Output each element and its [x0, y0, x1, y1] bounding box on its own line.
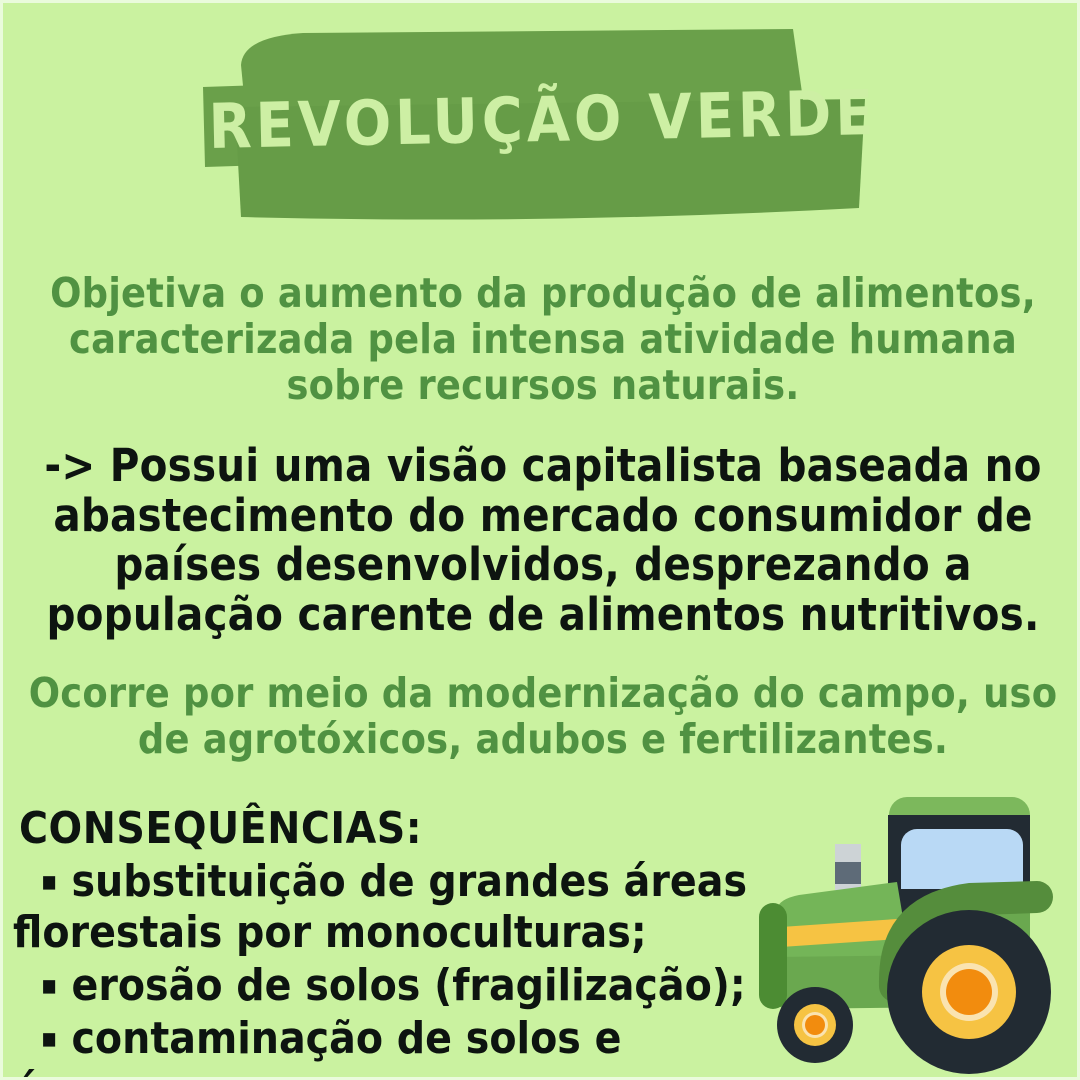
rear-hub-center [946, 969, 992, 1015]
tractor-illustration [747, 787, 1077, 1077]
exhaust-band [835, 862, 861, 884]
list-item-label: contaminação de solos e águas. [13, 1013, 621, 1080]
title-banner: REVOLUÇÃO VERDE [3, 3, 1080, 243]
consequences-block: CONSEQUÊNCIAS: ▪substituição de grandes … [13, 803, 773, 1080]
cab-window [901, 829, 1023, 889]
list-item: ▪substituição de grandes áreas florestai… [13, 856, 773, 958]
list-item: ▪contaminação de solos e águas. [13, 1013, 773, 1080]
list-item-label: substituição de grandes áreas florestais… [13, 856, 747, 958]
paragraph-capitalist-vision: -> Possui uma visão capitalista baseada … [21, 441, 1065, 639]
square-bullet-icon: ▪ [41, 970, 57, 1001]
front-bumper [759, 903, 787, 1009]
square-bullet-icon: ▪ [41, 866, 57, 897]
front-hub-center [805, 1015, 825, 1035]
paragraph-objective: Objetiva o aumento da produção de alimen… [21, 271, 1065, 409]
list-item: ▪erosão de solos (fragilização); [13, 960, 773, 1011]
infographic-poster: REVOLUÇÃO VERDE Objetiva o aumento da pr… [0, 0, 1080, 1080]
consequences-list: ▪substituição de grandes áreas florestai… [13, 856, 773, 1080]
tractor-icon [747, 787, 1077, 1077]
square-bullet-icon: ▪ [41, 1023, 57, 1054]
consequences-heading: CONSEQUÊNCIAS: [13, 803, 773, 854]
paragraph-modernization: Ocorre por meio da modernização do campo… [21, 671, 1065, 763]
list-item-label: erosão de solos (fragilização); [71, 960, 745, 1011]
